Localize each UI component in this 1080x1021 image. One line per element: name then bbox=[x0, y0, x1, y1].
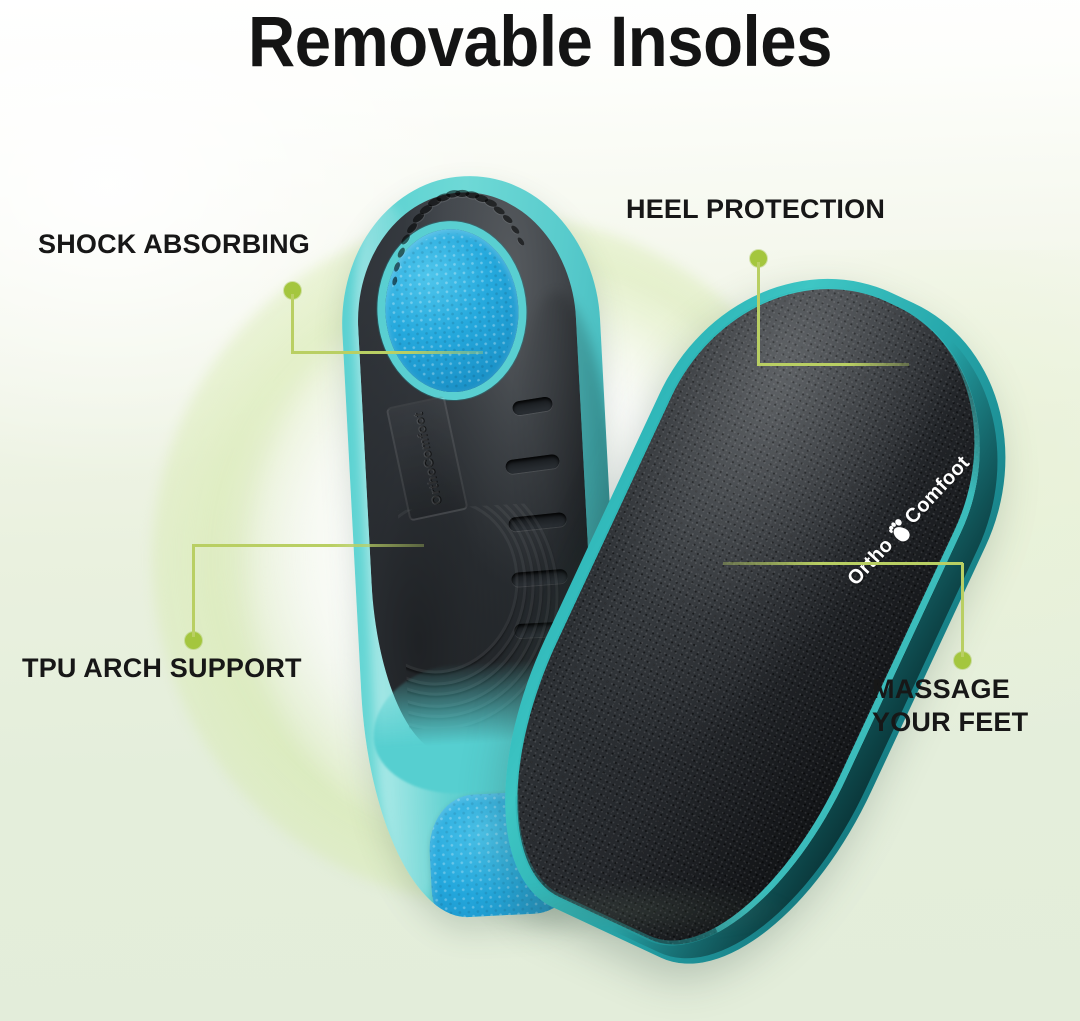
page-title: Removable Insoles bbox=[43, 4, 1037, 82]
callout-text: HEEL PROTECTION bbox=[626, 194, 885, 224]
callout-text: TPU ARCH SUPPORT bbox=[22, 653, 302, 683]
callout-label-massage-your-feet: MASSAGE YOUR FEET bbox=[866, 673, 1034, 739]
callout-label-heel-protection: HEEL PROTECTION bbox=[620, 193, 891, 226]
callout-label-shock-absorbing: SHOCK ABSORBING bbox=[32, 228, 316, 261]
callout-label-tpu-arch-support: TPU ARCH SUPPORT bbox=[16, 652, 308, 685]
callout-text-line-1: MASSAGE bbox=[872, 674, 1010, 704]
connector-line-horizontal bbox=[291, 351, 483, 354]
connector-line-horizontal bbox=[192, 544, 424, 547]
product-ground-shadow bbox=[470, 880, 800, 940]
connector-line-horizontal bbox=[757, 363, 909, 366]
connector-line-vertical bbox=[757, 262, 760, 366]
connector-line-vertical bbox=[291, 294, 294, 354]
product-feature-infographic: Removable Insoles OrthoComfoot bbox=[0, 0, 1080, 1021]
connector-line-vertical bbox=[192, 545, 195, 637]
brand-stamp-text: OrthoComfoot bbox=[410, 411, 444, 507]
callout-text-line-2: YOUR FEET bbox=[872, 707, 1028, 737]
callout-text: SHOCK ABSORBING bbox=[38, 229, 310, 259]
connector-line-horizontal bbox=[723, 562, 963, 565]
connector-line-vertical bbox=[961, 563, 964, 657]
